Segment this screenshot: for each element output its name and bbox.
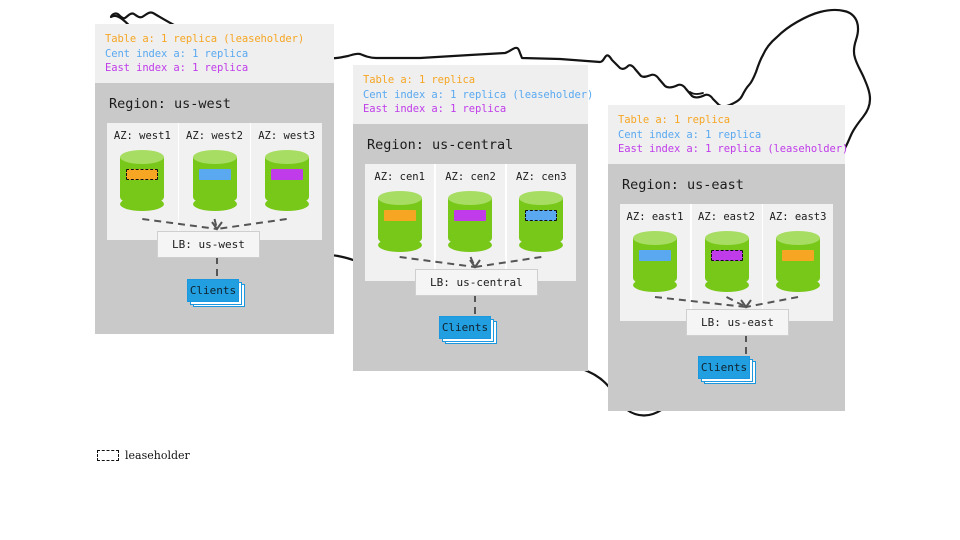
replica-summary-us-central: Table a: 1 replicaCent index a: 1 replic…: [353, 65, 588, 124]
replica-line-cent: Cent index a: 1 replica: [618, 128, 835, 143]
cylinder-top: [448, 191, 492, 205]
cylinder-bottom: [265, 197, 309, 211]
replica-line-table: Table a: 1 replica (leaseholder): [105, 32, 324, 47]
az-cell-east1[interactable]: AZ: east1: [620, 204, 690, 321]
az-cell-cen1[interactable]: AZ: cen1: [365, 164, 434, 281]
az-label: AZ: cen1: [374, 171, 425, 183]
replica-summary-us-east: Table a: 1 replicaCent index a: 1 replic…: [608, 105, 845, 164]
region-panel-us-east: Table a: 1 replicaCent index a: 1 replic…: [608, 105, 845, 411]
replica-chip-east: [454, 210, 486, 221]
replica-line-east: East index a: 1 replica: [105, 61, 324, 76]
cylinder-top: [265, 150, 309, 164]
replica-chip-cent: [199, 169, 231, 180]
az-cell-west3[interactable]: AZ: west3: [251, 123, 322, 240]
az-cell-east3[interactable]: AZ: east3: [763, 204, 833, 321]
clients-stack-us-east[interactable]: Clients: [698, 356, 756, 382]
database-cylinder-icon: [633, 231, 677, 293]
az-cell-west1[interactable]: AZ: west1: [107, 123, 178, 240]
az-cell-west2[interactable]: AZ: west2: [179, 123, 250, 240]
cylinder-top: [633, 231, 677, 245]
load-balancer-us-west[interactable]: LB: us-west: [157, 231, 260, 258]
az-strip-us-central: AZ: cen1AZ: cen2AZ: cen3: [365, 164, 576, 281]
cylinder-top: [378, 191, 422, 205]
replica-summary-us-west: Table a: 1 replica (leaseholder)Cent ind…: [95, 24, 334, 83]
database-cylinder-icon: [120, 150, 164, 212]
cylinder-bottom: [378, 238, 422, 252]
cylinder-bottom: [705, 278, 749, 292]
replica-line-east: East index a: 1 replica: [363, 102, 578, 117]
region-title-us-east: Region: us-east: [608, 164, 845, 204]
region-title-us-central: Region: us-central: [353, 124, 588, 164]
az-label: AZ: west1: [114, 130, 171, 142]
great-lakes-accent: [690, 92, 703, 94]
cylinder-top: [705, 231, 749, 245]
region-title-us-west: Region: us-west: [95, 83, 334, 123]
cylinder-top: [193, 150, 237, 164]
load-balancer-us-east[interactable]: LB: us-east: [686, 309, 789, 336]
legend: leaseholder: [97, 449, 190, 462]
replica-chip-table: [782, 250, 814, 261]
az-label: AZ: east1: [627, 211, 684, 223]
cylinder-top: [776, 231, 820, 245]
az-cell-cen2[interactable]: AZ: cen2: [436, 164, 505, 281]
leaseholder-swatch-icon: [97, 450, 119, 461]
replica-chip-east-leaseholder: [711, 250, 743, 261]
database-cylinder-icon: [448, 191, 492, 253]
replica-chip-cent: [639, 250, 671, 261]
cylinder-top: [519, 191, 563, 205]
load-balancer-us-central[interactable]: LB: us-central: [415, 269, 538, 296]
database-cylinder-icon: [519, 191, 563, 253]
cylinder-bottom: [193, 197, 237, 211]
region-panel-us-central: Table a: 1 replicaCent index a: 1 replic…: [353, 65, 588, 371]
az-strip-us-east: AZ: east1AZ: east2AZ: east3: [620, 204, 833, 321]
az-label: AZ: west3: [258, 130, 315, 142]
database-cylinder-icon: [776, 231, 820, 293]
clients-label: Clients: [187, 279, 239, 302]
clients-label: Clients: [698, 356, 750, 379]
replica-chip-east: [271, 169, 303, 180]
cylinder-bottom: [448, 238, 492, 252]
legend-label: leaseholder: [125, 449, 190, 462]
az-strip-us-west: AZ: west1AZ: west2AZ: west3: [107, 123, 322, 240]
az-label: AZ: cen2: [445, 171, 496, 183]
replica-line-cent: Cent index a: 1 replica: [105, 47, 324, 62]
replica-chip-table: [384, 210, 416, 221]
cylinder-bottom: [519, 238, 563, 252]
cylinder-bottom: [633, 278, 677, 292]
replica-line-table: Table a: 1 replica: [363, 73, 578, 88]
az-label: AZ: east2: [698, 211, 755, 223]
replica-line-east: East index a: 1 replica (leaseholder): [618, 142, 835, 157]
az-label: AZ: west2: [186, 130, 243, 142]
az-cell-cen3[interactable]: AZ: cen3: [507, 164, 576, 281]
az-label: AZ: east3: [770, 211, 827, 223]
az-cell-east2[interactable]: AZ: east2: [692, 204, 762, 321]
clients-stack-us-central[interactable]: Clients: [439, 316, 497, 342]
replica-chip-cent-leaseholder: [525, 210, 557, 221]
database-cylinder-icon: [193, 150, 237, 212]
replica-line-table: Table a: 1 replica: [618, 113, 835, 128]
clients-label: Clients: [439, 316, 491, 339]
clients-stack-us-west[interactable]: Clients: [187, 279, 245, 305]
database-cylinder-icon: [265, 150, 309, 212]
cylinder-bottom: [120, 197, 164, 211]
cylinder-top: [120, 150, 164, 164]
replica-chip-table-leaseholder: [126, 169, 158, 180]
database-cylinder-icon: [705, 231, 749, 293]
cylinder-bottom: [776, 278, 820, 292]
region-panel-us-west: Table a: 1 replica (leaseholder)Cent ind…: [95, 24, 334, 334]
diagram-canvas: Table a: 1 replica (leaseholder)Cent ind…: [0, 0, 960, 540]
database-cylinder-icon: [378, 191, 422, 253]
az-label: AZ: cen3: [516, 171, 567, 183]
replica-line-cent: Cent index a: 1 replica (leaseholder): [363, 88, 578, 103]
